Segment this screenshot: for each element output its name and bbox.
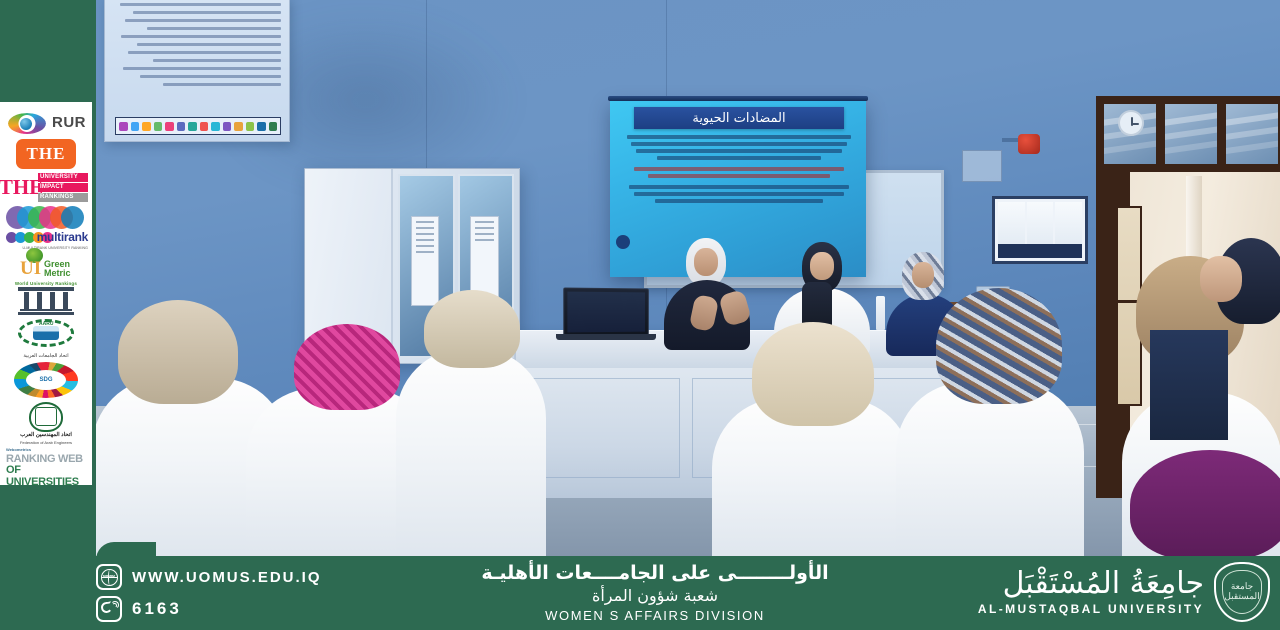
wall-plaque bbox=[962, 150, 1002, 182]
logo-slot-columns bbox=[4, 287, 88, 317]
engineers-arabic-label: اتحاد المهندسين العرب bbox=[9, 432, 83, 438]
wall-poster bbox=[104, 0, 290, 142]
university-english-name: AL-MUSTAQBAL UNIVERSITY bbox=[978, 602, 1204, 616]
accreditation-rail: RUR THE THE UNIVERSITY IMPACT RANKINGS bbox=[0, 0, 96, 630]
audience-labcoat bbox=[396, 348, 546, 556]
column-pillars-icon bbox=[24, 292, 68, 309]
sdg-wheel-logo: SDG bbox=[9, 360, 83, 400]
globe-www-label: www bbox=[103, 574, 115, 580]
logo-slot-webometrics: Webometrics RANKING WEB OF UNIVERSITIES bbox=[4, 447, 88, 477]
audience-face bbox=[1200, 256, 1242, 302]
column-base-icon bbox=[18, 312, 74, 315]
website-label: WWW.UOMUS.EDU.IQ bbox=[132, 569, 322, 586]
website-badge: www bbox=[96, 564, 122, 590]
banner-root: RUR THE THE UNIVERSITY IMPACT RANKINGS bbox=[0, 0, 1280, 630]
presenter-laptop bbox=[563, 287, 649, 336]
footer-english-division: WOMEN S AFFAIRS DIVISION bbox=[420, 608, 890, 623]
aaru-center-label: AARU bbox=[39, 321, 53, 327]
audience-hijab-beige bbox=[118, 300, 238, 404]
footer-contact-block: www WWW.UOMUS.EDU.IQ 6163 bbox=[96, 564, 396, 622]
audience-hijab-patterned bbox=[936, 288, 1062, 404]
slide-paragraph bbox=[622, 185, 856, 203]
slide-title: المضادات الحيوية bbox=[692, 111, 785, 126]
logo-slot-greenmetric: UI Green Metric World University Ranking… bbox=[4, 248, 88, 286]
cabinet-notice bbox=[411, 216, 440, 306]
association-of-arab-universities-logo: AARU اتحاد الجامعات العربية bbox=[9, 319, 83, 359]
footer-arabic-headline: الأولــــــــى على الجامــــعات الأهليـة bbox=[420, 562, 890, 586]
footer-division-block: الأولــــــــى على الجامــــعات الأهليـة… bbox=[420, 562, 890, 623]
webometrics-logo: Webometrics RANKING WEB OF UNIVERSITIES bbox=[4, 447, 88, 477]
banner-footer: www WWW.UOMUS.EDU.IQ 6163 الأولــــــــى… bbox=[0, 556, 1280, 630]
globe-icon: www bbox=[101, 569, 118, 586]
university-crest-icon: جامعة المستقبل bbox=[1214, 562, 1270, 622]
laptop-base bbox=[556, 334, 656, 340]
the-impact-label: THE bbox=[4, 171, 38, 205]
engineers-badge-icon bbox=[29, 402, 63, 432]
the-impact-line3: RANKINGS bbox=[38, 193, 88, 202]
phone-icon bbox=[100, 600, 118, 618]
column-roof-icon bbox=[18, 287, 74, 291]
presenter-center-face bbox=[810, 252, 834, 280]
audience-hijab-purple bbox=[1130, 450, 1280, 556]
crest-inner-shield: جامعة المستقبل bbox=[1222, 570, 1262, 614]
logo-slot-aaru: AARU اتحاد الجامعات العربية bbox=[4, 319, 88, 359]
rur-logo: RUR bbox=[4, 108, 88, 138]
presenter-right-face bbox=[912, 262, 934, 288]
university-wordmark: جامِعَةُ المُسْتَقْبَل AL-MUSTAQBAL UNIV… bbox=[978, 569, 1204, 616]
phone-label: 6163 bbox=[132, 599, 182, 619]
slide-paragraph-accent bbox=[622, 167, 856, 178]
arab-universities-columns-logo bbox=[18, 287, 74, 317]
the-impact-line1: UNIVERSITY bbox=[38, 173, 88, 182]
crest-label: جامعة المستقبل bbox=[1223, 582, 1261, 602]
logo-slot-rur: RUR bbox=[4, 108, 88, 138]
logo-slot-sdg: SDG bbox=[4, 360, 88, 400]
the-impact-line2: IMPACT bbox=[38, 183, 88, 192]
university-arabic-name: جامِعَةُ المُسْتَقْبَل bbox=[978, 569, 1204, 599]
rankings-logo-strip: RUR THE THE UNIVERSITY IMPACT RANKINGS bbox=[0, 102, 92, 485]
aaru-arabic-label: اتحاد الجامعات العربية bbox=[9, 353, 83, 359]
webometrics-top-label: Webometrics bbox=[6, 447, 31, 452]
logo-slot-the: THE bbox=[4, 139, 88, 169]
slide-decoration-icon bbox=[616, 235, 630, 249]
footer-university-block: جامِعَةُ المُسْتَقْبَل AL-MUSTAQBAL UNIV… bbox=[978, 562, 1270, 622]
footer-arabic-division: شعبة شؤون المرأة bbox=[420, 586, 890, 607]
audience-labcoat bbox=[896, 382, 1084, 556]
rur-label: RUR bbox=[52, 114, 86, 131]
logo-slot-arab-engineers: اتحاد المهندسين العرب Federation of Arab… bbox=[4, 402, 88, 446]
fire-alarm-icon bbox=[1018, 134, 1040, 154]
the-impact-rankings-logo: THE UNIVERSITY IMPACT RANKINGS bbox=[4, 171, 88, 205]
the-label: THE bbox=[27, 144, 66, 164]
logo-slot-multirank: multirank U-MULTIRANK UNIVERSITY RANKING bbox=[4, 206, 88, 246]
greenmetric-subtitle: World University Rankings bbox=[10, 281, 82, 286]
event-photograph: المضادات الحيوية bbox=[96, 0, 1280, 556]
slide-paragraph bbox=[622, 135, 856, 160]
wall-clock bbox=[1118, 110, 1144, 136]
footer-corner-curve bbox=[96, 542, 156, 562]
umultirank-logo: multirank U-MULTIRANK UNIVERSITY RANKING bbox=[4, 206, 88, 246]
sdg-center-label: SDG bbox=[26, 370, 66, 390]
webometrics-line2: OF UNIVERSITIES bbox=[6, 464, 88, 488]
phone-badge bbox=[96, 596, 122, 622]
logo-slot-the-impact: THE UNIVERSITY IMPACT RANKINGS bbox=[4, 171, 88, 205]
audience-dark-top bbox=[1150, 330, 1228, 440]
poster-logo-band bbox=[115, 117, 281, 135]
column-step-icon bbox=[20, 309, 72, 311]
audience-hijab-pink bbox=[294, 324, 400, 410]
greenmetric-line2: Metric bbox=[44, 269, 71, 278]
federation-of-arab-engineers-logo: اتحاد المهندسين العرب Federation of Arab… bbox=[9, 402, 83, 446]
presenter-speaker-face bbox=[694, 248, 718, 276]
multirank-label: multirank bbox=[37, 230, 88, 244]
the-logo: THE bbox=[16, 139, 76, 169]
footer-phone-row[interactable]: 6163 bbox=[96, 596, 396, 622]
greenmetric-words: Green Metric bbox=[44, 260, 71, 279]
engineers-calligraphy-icon bbox=[35, 407, 57, 426]
greenmetric-ui-label: UI bbox=[20, 259, 41, 278]
wall-notice-board bbox=[992, 196, 1088, 264]
multirank-rings-icon bbox=[6, 206, 86, 229]
aaru-emblem-icon bbox=[33, 326, 59, 340]
globe-icon bbox=[20, 118, 32, 130]
the-impact-bars: UNIVERSITY IMPACT RANKINGS bbox=[38, 171, 88, 205]
audience-hijab-cream bbox=[752, 322, 874, 426]
footer-website-row[interactable]: www WWW.UOMUS.EDU.IQ bbox=[96, 564, 396, 590]
desk-bottle bbox=[876, 296, 885, 330]
slide-title-bar: المضادات الحيوية bbox=[634, 107, 844, 129]
audience-hijab-cream bbox=[424, 290, 520, 368]
ui-greenmetric-logo: UI Green Metric World University Ranking… bbox=[4, 248, 88, 286]
engineers-english-label: Federation of Arab Engineers bbox=[9, 440, 83, 445]
